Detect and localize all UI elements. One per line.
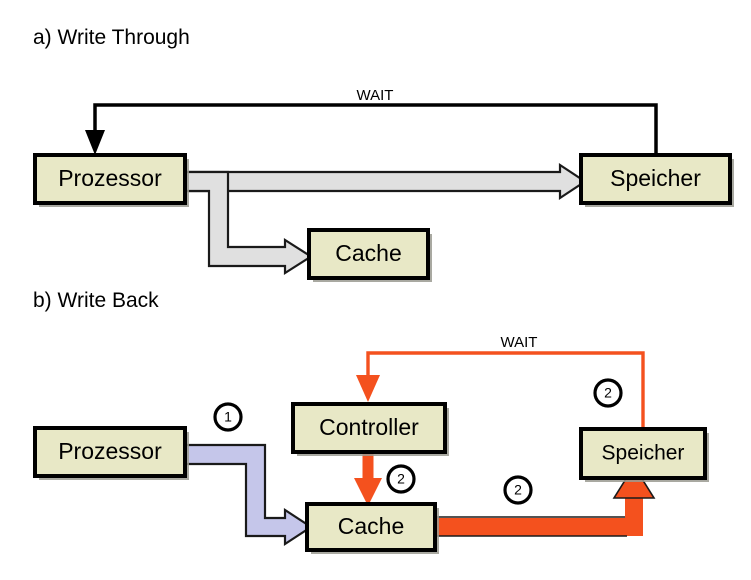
box-label-speicher-b: Speicher xyxy=(602,442,685,465)
box-label-prozessor-a: Prozessor xyxy=(58,165,162,191)
cache-write-policies-diagram: a) Write Through WAIT Prozessor xyxy=(0,0,751,580)
wait-signal-path-a xyxy=(85,105,656,155)
box-label-controller-b: Controller xyxy=(319,414,419,440)
box-speicher-a: Speicher xyxy=(581,155,734,207)
step-marker-1: 1 xyxy=(215,404,241,430)
section-a-title: a) Write Through xyxy=(33,26,190,49)
step-marker-2a: 2 xyxy=(388,466,414,492)
box-label-cache-b: Cache xyxy=(338,513,404,539)
box-label-cache-a: Cache xyxy=(335,240,401,266)
wait-label-b: WAIT xyxy=(501,334,538,351)
box-controller-b: Controller xyxy=(293,404,449,456)
box-cache-a: Cache xyxy=(309,230,432,282)
box-prozessor-a: Prozessor xyxy=(35,155,189,207)
box-label-speicher-a: Speicher xyxy=(610,165,701,191)
section-write-back: b) Write Back WAIT xyxy=(33,289,709,554)
step-marker-2a-text: 2 xyxy=(397,471,405,487)
box-label-prozessor-b: Prozessor xyxy=(58,438,162,464)
step-marker-2c-text: 2 xyxy=(604,385,612,401)
bus-proc-to-cache-b xyxy=(185,445,311,544)
bus-proc-to-speicher-a xyxy=(185,165,585,198)
step-marker-1-text: 1 xyxy=(224,409,232,425)
box-cache-b: Cache xyxy=(307,504,439,554)
arrow-controller-to-cache-b xyxy=(354,452,382,506)
diagram-canvas: a) Write Through WAIT Prozessor xyxy=(0,0,751,580)
section-b-title: b) Write Back xyxy=(33,289,159,312)
section-write-through: a) Write Through WAIT Prozessor xyxy=(33,26,734,282)
box-prozessor-b: Prozessor xyxy=(35,428,189,480)
wait-label-a: WAIT xyxy=(357,87,394,104)
box-speicher-b: Speicher xyxy=(581,429,709,482)
step-marker-2b: 2 xyxy=(505,477,531,503)
step-marker-2c: 2 xyxy=(595,380,621,406)
step-marker-2b-text: 2 xyxy=(514,482,522,498)
